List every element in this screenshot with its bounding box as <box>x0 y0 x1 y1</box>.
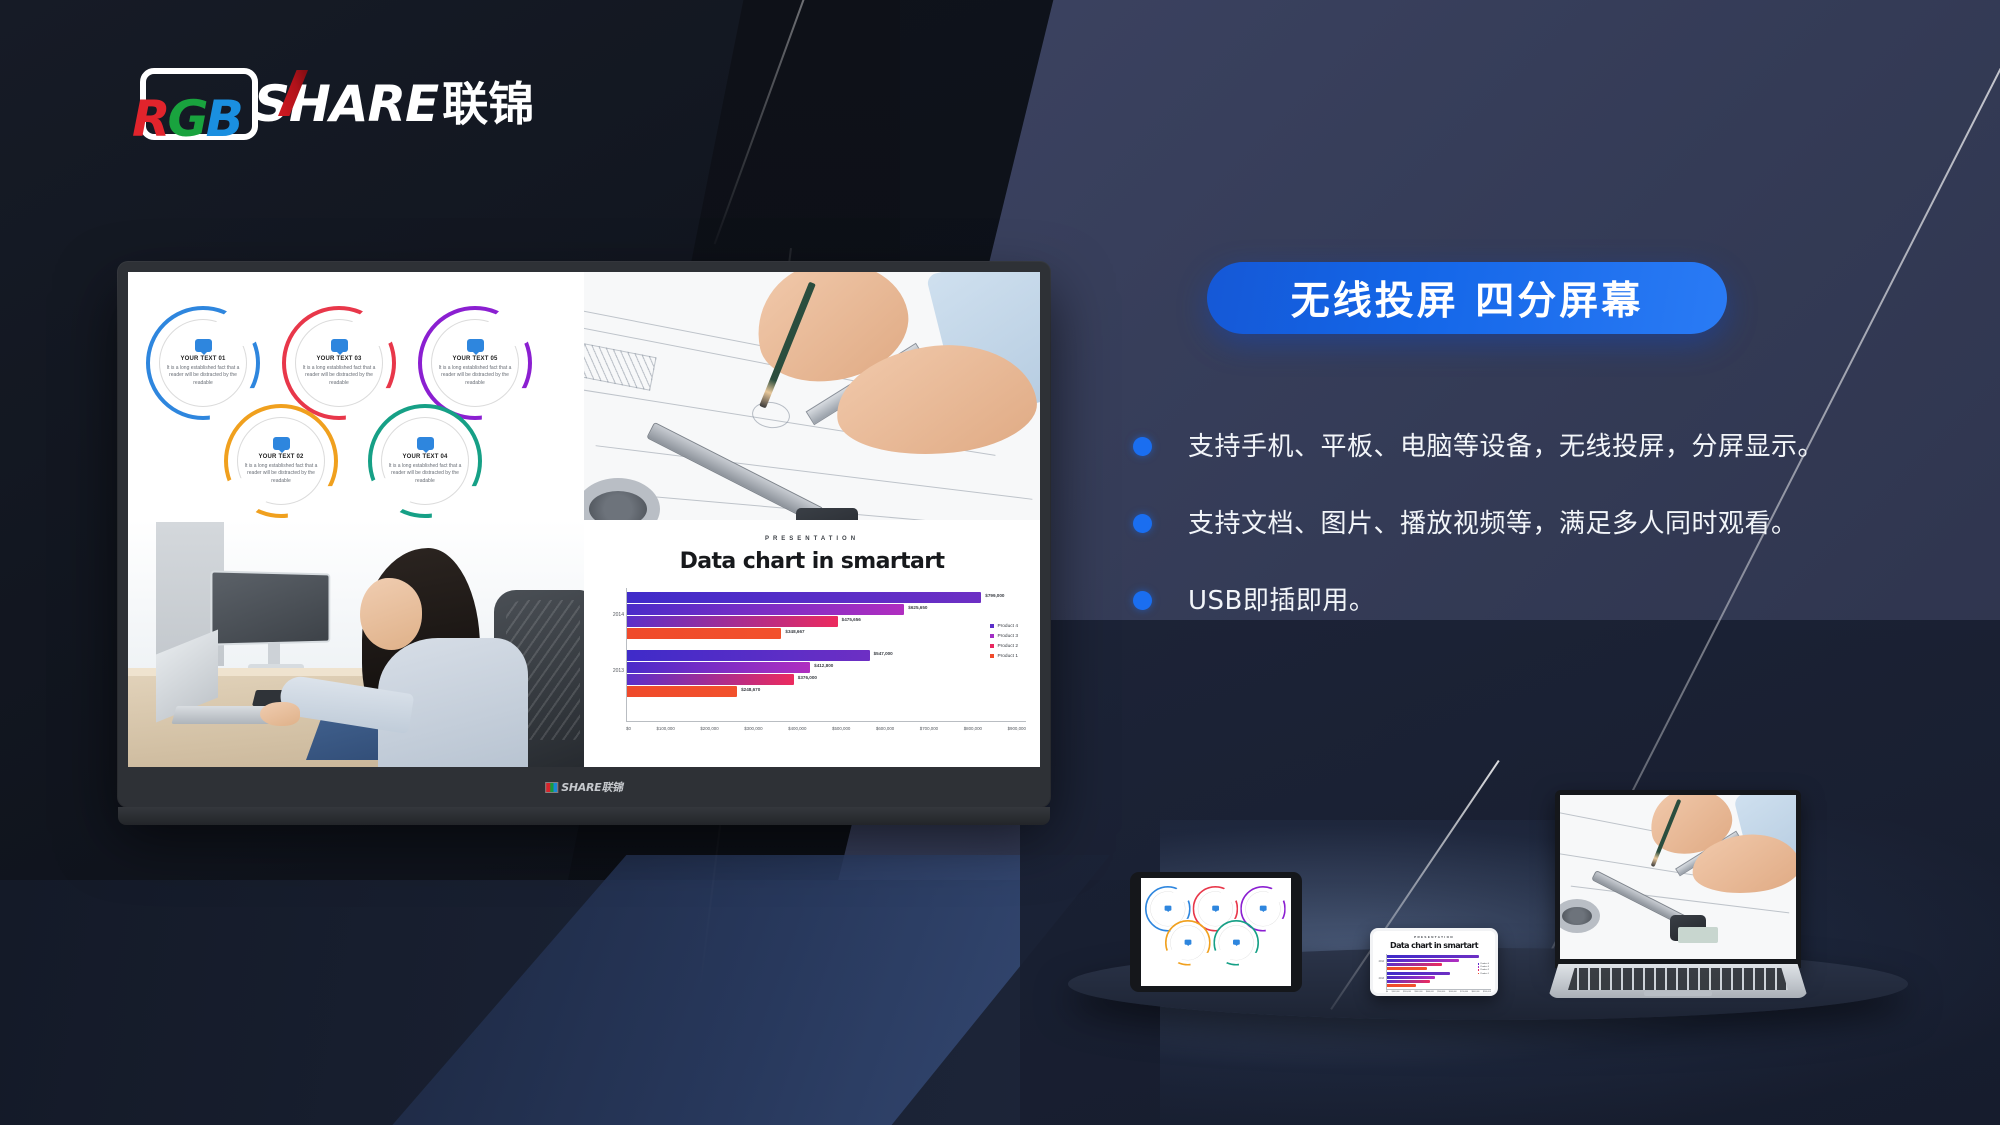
bar-value-label: $376,000 <box>798 675 817 680</box>
bar-value-label: $799,000 <box>985 593 1004 598</box>
legend-swatch <box>1478 969 1480 971</box>
tv-bezel-logo: SHARE联锦 <box>545 779 623 795</box>
steps-row-bottom: STEP 02 YOUR TEXT 02 It is a long establ… <box>224 404 482 518</box>
quadrant-office-photo <box>128 520 584 768</box>
bar-2013-product1: $248,670 <box>627 686 737 697</box>
step-body: YOUR TEXT 01 It is a long established fa… <box>164 324 242 402</box>
chart-x-tick: $400,000 <box>788 726 806 731</box>
tablet-screen <box>1141 878 1291 986</box>
chart-y-tick: 2014 <box>1379 960 1384 963</box>
chart-y-labels: 2014 2013 <box>598 588 626 722</box>
steps-row-top: STEP 01 YOUR TEXT 01 It is a long establ… <box>146 306 532 420</box>
chart-x-tick: $600,000 <box>876 726 894 731</box>
step-card-02: STEP 02 YOUR TEXT 02 It is a long establ… <box>224 404 338 518</box>
phone-chart-slide: PRESENTATION Data chart in smartart 2014… <box>1373 931 1495 993</box>
feature-bullet-1: 支持手机、平板、电脑等设备，无线投屏，分屏显示。 <box>1133 430 1943 465</box>
person-face <box>360 578 422 650</box>
logo-share-text: SHARE <box>254 79 438 129</box>
tv-screen: STEP 01 YOUR TEXT 01 It is a long establ… <box>128 272 1040 767</box>
monitor-neck <box>268 642 280 666</box>
logo-rgb-letters: R G B <box>132 94 241 144</box>
chart-legend: Product 4 Product 3 Product 2 Product 1 <box>990 624 1018 664</box>
phone-chart-kicker: PRESENTATION <box>1377 935 1491 939</box>
bar-2014-product1: $348,667 <box>627 628 781 639</box>
bar-value-label: $625,650 <box>908 605 927 610</box>
legend-label: Product 3 <box>997 634 1018 639</box>
chart-x-tick: $100,000 <box>1392 991 1400 993</box>
caliper-display <box>1670 915 1706 941</box>
chart-title: Data chart in smartart <box>598 549 1026 574</box>
laptop-trackpad <box>1644 991 1712 996</box>
phone-chart-plot: Product 4 Product 3 Product 2 Product 1 <box>1386 954 1491 990</box>
step-body: YOUR TEXT 03 It is a long established fa… <box>300 324 378 402</box>
legend-label: Product 4 <box>997 624 1018 629</box>
bar-group-2013: $547,000 $412,800 $376,000 $248,670 <box>627 650 1026 698</box>
device-laptop <box>1548 790 1808 998</box>
bar-2013-product2: $376,000 <box>627 674 794 685</box>
step-body: YOUR TEXT 02 It is a long established fa… <box>242 422 320 500</box>
legend-swatch <box>1478 966 1480 968</box>
step-description: It is a long established fact that a rea… <box>166 365 240 387</box>
bar-2014-product1 <box>1387 967 1427 970</box>
headline-banner: 无线投屏 四分屏幕 <box>1207 262 1727 334</box>
laptop-deck <box>1548 964 1808 998</box>
slide-canvas: R G B SHARE 联锦 STEP 01 <box>0 0 2000 1125</box>
step-card-03: STEP 03 YOUR TEXT 03 It is a long establ… <box>282 306 396 420</box>
chart-x-tick: $800,000 <box>964 726 982 731</box>
logo-letter-g: G <box>168 94 206 144</box>
phone-bar-group-2014 <box>1387 955 1491 971</box>
chart-x-tick: $600,000 <box>1449 991 1457 993</box>
speech-bubble-icon <box>467 339 484 352</box>
step-description: It is a long established fact that a rea… <box>388 463 462 485</box>
tablet-step-02 <box>1165 920 1211 966</box>
chart-y-tick: 2013 <box>1379 977 1384 980</box>
legend-item: Product 1 <box>1478 973 1489 975</box>
speech-bubble-icon <box>1260 905 1267 910</box>
chart-x-tick: $100,000 <box>656 726 674 731</box>
chart-area: 2014 2013 $799,000 $625,650 $475,656 $34… <box>598 588 1026 722</box>
tv-display: STEP 01 YOUR TEXT 01 It is a long establ… <box>118 262 1050 807</box>
step-description: It is a long established fact that a rea… <box>438 365 512 387</box>
step-card-01: STEP 01 YOUR TEXT 01 It is a long establ… <box>146 306 260 420</box>
laptop-keyboard <box>1568 968 1788 990</box>
bar-2013-product4 <box>1387 972 1450 975</box>
speech-bubble-icon <box>1212 905 1219 910</box>
step-badge-number: 02 <box>229 499 248 506</box>
phone-chart-area: 2014 2013 <box>1377 954 1491 990</box>
step-description: It is a long established fact that a rea… <box>244 463 318 485</box>
bar-2013-product3: $412,800 <box>627 662 810 673</box>
bezel-logo-text: SHARE联锦 <box>561 779 623 795</box>
chart-x-tick: $200,000 <box>1403 991 1411 993</box>
legend-item: Product 4 <box>990 624 1018 629</box>
step-card-04: STEP 04 YOUR TEXT 04 It is a long establ… <box>368 404 482 518</box>
desktop-monitor <box>210 570 330 645</box>
bullet-dot-icon <box>1133 591 1152 610</box>
chart-x-tick: $500,000 <box>1437 991 1445 993</box>
phone-bar-group-2013 <box>1387 972 1491 988</box>
laptop-screen <box>1560 795 1796 959</box>
legend-swatch <box>990 634 994 638</box>
speech-bubble-icon <box>1164 905 1171 910</box>
chart-x-tick: $300,000 <box>744 726 762 731</box>
legend-label: Product 1 <box>997 654 1018 659</box>
quadrant-chart-slide: PRESENTATION Data chart in smartart 2014… <box>584 520 1040 768</box>
bar-2014-product4: $799,000 <box>627 592 981 603</box>
chart-x-axis: $0 $100,000 $200,000 $300,000 $400,000 $… <box>626 722 1026 731</box>
legend-item: Product 3 <box>990 634 1018 639</box>
chart-x-tick: $400,000 <box>1426 991 1434 993</box>
step-body: YOUR TEXT 04 It is a long established fa… <box>386 422 464 500</box>
chart-y-tick: 2014 <box>613 612 624 618</box>
step-body <box>1172 927 1203 958</box>
device-phone: PRESENTATION Data chart in smartart 2014… <box>1370 928 1498 996</box>
logo-frame-icon: R G B <box>140 68 258 140</box>
chart-x-tick: $200,000 <box>700 726 718 731</box>
bar-value-label: $547,000 <box>874 651 893 656</box>
bar-value-label: $248,670 <box>741 687 760 692</box>
chart-x-tick: $800,000 <box>1472 991 1480 993</box>
phone-chart-title: Data chart in smartart <box>1377 941 1491 950</box>
bar-2013-product4: $547,000 <box>627 650 870 661</box>
bar-2014-product4 <box>1387 955 1479 958</box>
legend-swatch <box>990 644 994 648</box>
logo-chinese-text: 联锦 <box>442 81 534 127</box>
speech-bubble-icon <box>273 437 290 450</box>
legend-label: Product 2 <box>997 644 1018 649</box>
headline-text: 无线投屏 四分屏幕 <box>1291 270 1644 326</box>
chart-x-tick: $700,000 <box>920 726 938 731</box>
step-title: YOUR TEXT 04 <box>402 454 447 460</box>
chart-x-tick: $0 <box>626 726 631 731</box>
brand-logo: R G B SHARE 联锦 <box>140 68 534 140</box>
bullet-text: 支持手机、平板、电脑等设备，无线投屏，分屏显示。 <box>1188 430 1824 465</box>
bar-value-label: $348,667 <box>785 629 804 634</box>
legend-item: Product 2 <box>1478 969 1489 971</box>
device-tablet <box>1130 872 1302 992</box>
laptop-screen-frame <box>1555 790 1801 968</box>
legend-item: Product 4 <box>1478 963 1489 965</box>
legend-label: Product 4 <box>1480 963 1489 965</box>
phone-chart-x-axis: $0 $100,000 $200,000 $300,000 $400,000 $… <box>1386 990 1491 993</box>
chart-x-tick: $500,000 <box>832 726 850 731</box>
legend-label: Product 3 <box>1480 966 1489 968</box>
feature-bullet-2: 支持文档、图片、播放视频等，满足多人同时观看。 <box>1133 507 1943 542</box>
step-body <box>1221 927 1252 958</box>
bar-group-2014: $799,000 $625,650 $475,656 $348,667 <box>627 592 1026 640</box>
tablet-step-04 <box>1213 920 1259 966</box>
feature-bullet-list: 支持手机、平板、电脑等设备，无线投屏，分屏显示。 支持文档、图片、播放视频等，满… <box>1133 430 1943 661</box>
feature-bullet-3: USB即插即用。 <box>1133 584 1943 619</box>
step-title: YOUR TEXT 03 <box>316 356 361 362</box>
chart-x-tick: $900,000 <box>1483 991 1491 993</box>
speech-bubble-icon <box>195 339 212 352</box>
tv-stand <box>118 807 1050 825</box>
speech-bubble-icon <box>1233 939 1240 944</box>
legend-item: Product 2 <box>990 644 1018 649</box>
chart-kicker: PRESENTATION <box>598 536 1026 542</box>
bar-value-label: $412,800 <box>814 663 833 668</box>
tablet-steps-row-bottom <box>1165 920 1259 966</box>
bullet-dot-icon <box>1133 514 1152 533</box>
speech-bubble-icon <box>331 339 348 352</box>
legend-swatch <box>990 654 994 658</box>
step-title: YOUR TEXT 02 <box>258 454 303 460</box>
bezel-rgb-icon <box>545 782 558 793</box>
speech-bubble-icon <box>417 437 434 450</box>
legend-swatch <box>1478 963 1480 965</box>
chart-x-tick: $900,000 <box>1008 726 1026 731</box>
bar-2014-product3 <box>1387 959 1459 962</box>
step-description: It is a long established fact that a rea… <box>302 365 376 387</box>
legend-label: Product 2 <box>1480 969 1489 971</box>
legend-swatch <box>1478 973 1480 975</box>
bullet-text: 支持文档、图片、播放视频等，满足多人同时观看。 <box>1188 507 1798 542</box>
quadrant-steps-infographic: STEP 01 YOUR TEXT 01 It is a long establ… <box>128 272 584 520</box>
bar-2013-product3 <box>1387 976 1435 979</box>
bar-value-label: $475,656 <box>842 617 861 622</box>
bar-2014-product3: $625,650 <box>627 604 904 615</box>
step-title: YOUR TEXT 01 <box>180 356 225 362</box>
logo-letter-b: B <box>206 94 241 144</box>
logo-letter-r: R <box>132 94 168 144</box>
bar-2014-product2: $475,656 <box>627 616 838 627</box>
chart-x-tick: $0 <box>1386 991 1388 993</box>
legend-swatch <box>990 624 994 628</box>
phone-chart-y-labels: 2014 2013 <box>1377 954 1386 990</box>
step-title: YOUR TEXT 05 <box>452 356 497 362</box>
chart-x-tick: $300,000 <box>1414 991 1422 993</box>
legend-item: Product 1 <box>990 654 1018 659</box>
bar-2013-product2 <box>1387 980 1430 983</box>
speech-bubble-icon <box>1184 939 1191 944</box>
legend-label: Product 1 <box>1480 973 1489 975</box>
tv-bezel-chin: SHARE联锦 <box>128 767 1040 807</box>
step-badge-number: 04 <box>373 499 392 506</box>
step-body: YOUR TEXT 05 It is a long established fa… <box>436 324 514 402</box>
step-card-05: STEP 05 YOUR TEXT 05 It is a long establ… <box>418 306 532 420</box>
chart-y-tick: 2013 <box>613 668 624 674</box>
chart-plot: $799,000 $625,650 $475,656 $348,667 $547… <box>626 588 1026 722</box>
chart-x-tick: $700,000 <box>1460 991 1468 993</box>
caliper-display <box>796 508 858 520</box>
bullet-dot-icon <box>1133 437 1152 456</box>
phone-chart-legend: Product 4 Product 3 Product 2 Product 1 <box>1478 963 1489 976</box>
person-hand <box>260 702 300 726</box>
legend-item: Product 3 <box>1478 966 1489 968</box>
bar-2013-product1 <box>1387 984 1416 987</box>
bar-2014-product2 <box>1387 963 1442 966</box>
bullet-text: USB即插即用。 <box>1188 584 1375 619</box>
phone-screen: PRESENTATION Data chart in smartart 2014… <box>1373 931 1495 993</box>
quadrant-drafting-photo <box>584 272 1040 520</box>
